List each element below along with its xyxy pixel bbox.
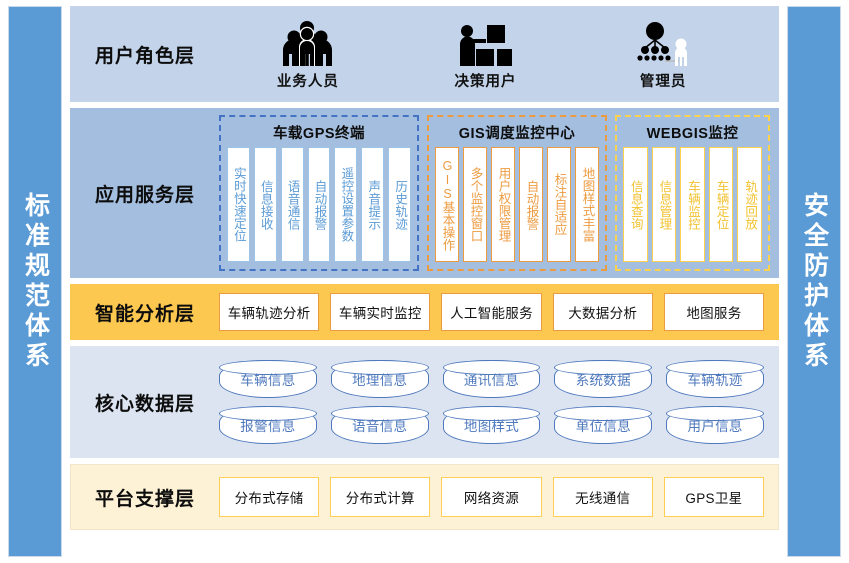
db-label: 用户信息 — [687, 415, 742, 435]
left-sidebar-label: 标准规范体系 — [23, 192, 48, 372]
smart-item-map-service[interactable]: 地图服务 — [664, 293, 764, 331]
layer-platform-support-body: 分布式存储 分布式计算 网络资源 无线通信 GPS卫星 — [219, 477, 778, 517]
app-item-info-receive[interactable]: 信息接收 — [254, 147, 277, 262]
app-item-label: 自动报警 — [313, 180, 326, 230]
group-gis-dispatch-center: GIS调度监控中心 GIS基本操作 多个监控窗口 用户权限管理 自动报警 标注自… — [427, 115, 607, 271]
layer-platform-support: 平台支撑层 分布式存储 分布式计算 网络资源 无线通信 GPS卫星 — [70, 464, 779, 530]
app-item-auto-alarm[interactable]: 自动报警 — [308, 147, 331, 262]
app-item-label: 用户权限管理 — [497, 167, 510, 242]
platform-item-distributed-storage[interactable]: 分布式存储 — [219, 477, 319, 517]
layer-application-service-title: 应用服务层 — [71, 109, 219, 277]
group-vehicle-gps-terminal: 车载GPS终端 实时快速定位 信息接收 语音通信 自动报警 遥控设置参数 声音提… — [219, 115, 419, 271]
web-item-info-manage[interactable]: 信息管理 — [652, 147, 677, 262]
app-item-label: 实时快速定位 — [232, 167, 245, 242]
app-item-label: 车辆定位 — [715, 180, 728, 230]
db-label: 地图样式 — [464, 415, 519, 435]
db-geo-info[interactable]: 地理信息 — [331, 360, 429, 398]
left-sidebar-standard-system: 标准规范体系 — [8, 6, 62, 557]
db-comm-info[interactable]: 通讯信息 — [443, 360, 541, 398]
app-item-sound-prompt[interactable]: 声音提示 — [361, 147, 384, 262]
layer-user-role-body: 业务人员 决策 — [219, 18, 778, 91]
architecture-diagram: 标准规范体系 用户角色层 — [0, 0, 849, 563]
db-label: 系统数据 — [576, 369, 631, 389]
app-item-label: 遥控设置参数 — [339, 167, 352, 242]
db-label: 报警信息 — [240, 415, 295, 435]
group-vehicle-gps-terminal-title: 车载GPS终端 — [227, 121, 411, 147]
platform-item-network-resource[interactable]: 网络资源 — [441, 477, 541, 517]
group-gis-dispatch-center-title: GIS调度监控中心 — [435, 121, 599, 147]
db-alarm-info[interactable]: 报警信息 — [219, 406, 317, 444]
layer-intelligent-analysis-title: 智能分析层 — [71, 299, 219, 326]
platform-item-wireless-comm[interactable]: 无线通信 — [553, 477, 653, 517]
layer-user-role: 用户角色层 — [70, 6, 779, 102]
gis-item-rich-map-style[interactable]: 地图样式丰富 — [575, 147, 599, 262]
app-item-realtime-positioning[interactable]: 实时快速定位 — [227, 147, 250, 262]
core-data-row: 车辆信息 地理信息 通讯信息 系统数据 车辆轨迹 — [219, 360, 764, 398]
role-administrator-label: 管理员 — [640, 70, 687, 91]
layer-platform-support-title: 平台支撑层 — [71, 484, 219, 511]
layer-application-service-body: 车载GPS终端 实时快速定位 信息接收 语音通信 自动报警 遥控设置参数 声音提… — [219, 109, 778, 277]
person-blocks-icon — [458, 18, 512, 68]
app-item-label: 语音通信 — [286, 180, 299, 230]
right-sidebar-label: 安全防护体系 — [802, 192, 827, 372]
app-item-label: 信息接收 — [259, 180, 272, 230]
platform-item-distributed-computing[interactable]: 分布式计算 — [330, 477, 430, 517]
gis-item-user-permission[interactable]: 用户权限管理 — [491, 147, 515, 262]
app-item-label: 声音提示 — [366, 180, 379, 230]
layer-core-data-body: 车辆信息 地理信息 通讯信息 系统数据 车辆轨迹 报警信息 语音信息 地图样式 … — [219, 350, 778, 454]
db-user-info[interactable]: 用户信息 — [666, 406, 764, 444]
db-vehicle-info[interactable]: 车辆信息 — [219, 360, 317, 398]
group-webgis-monitor-title: WEBGIS监控 — [623, 121, 762, 147]
layer-core-data-title: 核心数据层 — [71, 389, 219, 416]
app-item-remote-params[interactable]: 遥控设置参数 — [334, 147, 357, 262]
layer-application-service: 应用服务层 车载GPS终端 实时快速定位 信息接收 语音通信 自动报警 遥控设置… — [70, 108, 779, 278]
gis-item-label-adaptive[interactable]: 标注自适应 — [547, 147, 571, 262]
app-item-label: 自动报警 — [525, 180, 538, 230]
db-label: 通讯信息 — [464, 369, 519, 389]
app-item-label: 信息管理 — [657, 180, 670, 230]
gis-item-auto-alarm[interactable]: 自动报警 — [519, 147, 543, 262]
web-item-vehicle-monitor[interactable]: 车辆监控 — [680, 147, 705, 262]
app-item-label: 标注自适应 — [553, 173, 566, 236]
db-vehicle-track[interactable]: 车辆轨迹 — [666, 360, 764, 398]
smart-item-realtime-monitor[interactable]: 车辆实时监控 — [330, 293, 430, 331]
db-label: 车辆信息 — [240, 369, 295, 389]
web-item-track-playback[interactable]: 轨迹回放 — [737, 147, 762, 262]
role-decision-user[interactable]: 决策用户 — [410, 18, 560, 91]
role-decision-user-label: 决策用户 — [454, 70, 516, 91]
layer-intelligent-analysis: 智能分析层 车辆轨迹分析 车辆实时监控 人工智能服务 大数据分析 地图服务 — [70, 284, 779, 340]
db-label: 单位信息 — [576, 415, 631, 435]
layers-column: 用户角色层 — [70, 6, 779, 557]
layer-intelligent-analysis-body: 车辆轨迹分析 车辆实时监控 人工智能服务 大数据分析 地图服务 — [219, 293, 778, 331]
web-item-vehicle-positioning[interactable]: 车辆定位 — [709, 147, 734, 262]
db-label: 地理信息 — [352, 369, 407, 389]
app-item-label: 多个监控窗口 — [469, 167, 482, 242]
db-label: 语音信息 — [352, 415, 407, 435]
app-item-history-track[interactable]: 历史轨迹 — [388, 147, 411, 262]
app-item-label: 轨迹回放 — [743, 180, 756, 230]
smart-item-bigdata-analysis[interactable]: 大数据分析 — [553, 293, 653, 331]
db-label: 车辆轨迹 — [687, 369, 742, 389]
org-chart-person-icon — [635, 18, 691, 68]
app-item-label: 信息查询 — [629, 180, 642, 230]
gis-item-multi-monitor-window[interactable]: 多个监控窗口 — [463, 147, 487, 262]
web-item-info-query[interactable]: 信息查询 — [623, 147, 648, 262]
platform-item-gps-satellite[interactable]: GPS卫星 — [664, 477, 764, 517]
app-item-label: 车辆监控 — [686, 180, 699, 230]
role-business-staff[interactable]: 业务人员 — [233, 18, 383, 91]
db-unit-info[interactable]: 单位信息 — [554, 406, 652, 444]
app-item-label: 历史轨迹 — [393, 180, 406, 230]
smart-item-ai-service[interactable]: 人工智能服务 — [441, 293, 541, 331]
right-sidebar-security-system: 安全防护体系 — [787, 6, 841, 557]
app-item-voice-comm[interactable]: 语音通信 — [281, 147, 304, 262]
role-administrator[interactable]: 管理员 — [588, 18, 738, 91]
smart-item-track-analysis[interactable]: 车辆轨迹分析 — [219, 293, 319, 331]
role-business-staff-label: 业务人员 — [277, 70, 339, 91]
db-map-style[interactable]: 地图样式 — [443, 406, 541, 444]
group-webgis-monitor: WEBGIS监控 信息查询 信息管理 车辆监控 车辆定位 轨迹回放 — [615, 115, 770, 271]
gis-item-basic-operation[interactable]: GIS基本操作 — [435, 147, 459, 262]
people-group-icon — [279, 18, 337, 68]
app-item-label: 地图样式丰富 — [581, 167, 594, 242]
layer-user-role-title: 用户角色层 — [71, 41, 219, 68]
layer-core-data: 核心数据层 车辆信息 地理信息 通讯信息 系统数据 车辆轨迹 报警信息 语音信息… — [70, 346, 779, 458]
db-voice-info[interactable]: 语音信息 — [331, 406, 429, 444]
app-item-label: GIS基本操作 — [441, 159, 454, 251]
core-data-row: 报警信息 语音信息 地图样式 单位信息 用户信息 — [219, 406, 764, 444]
db-system-data[interactable]: 系统数据 — [554, 360, 652, 398]
